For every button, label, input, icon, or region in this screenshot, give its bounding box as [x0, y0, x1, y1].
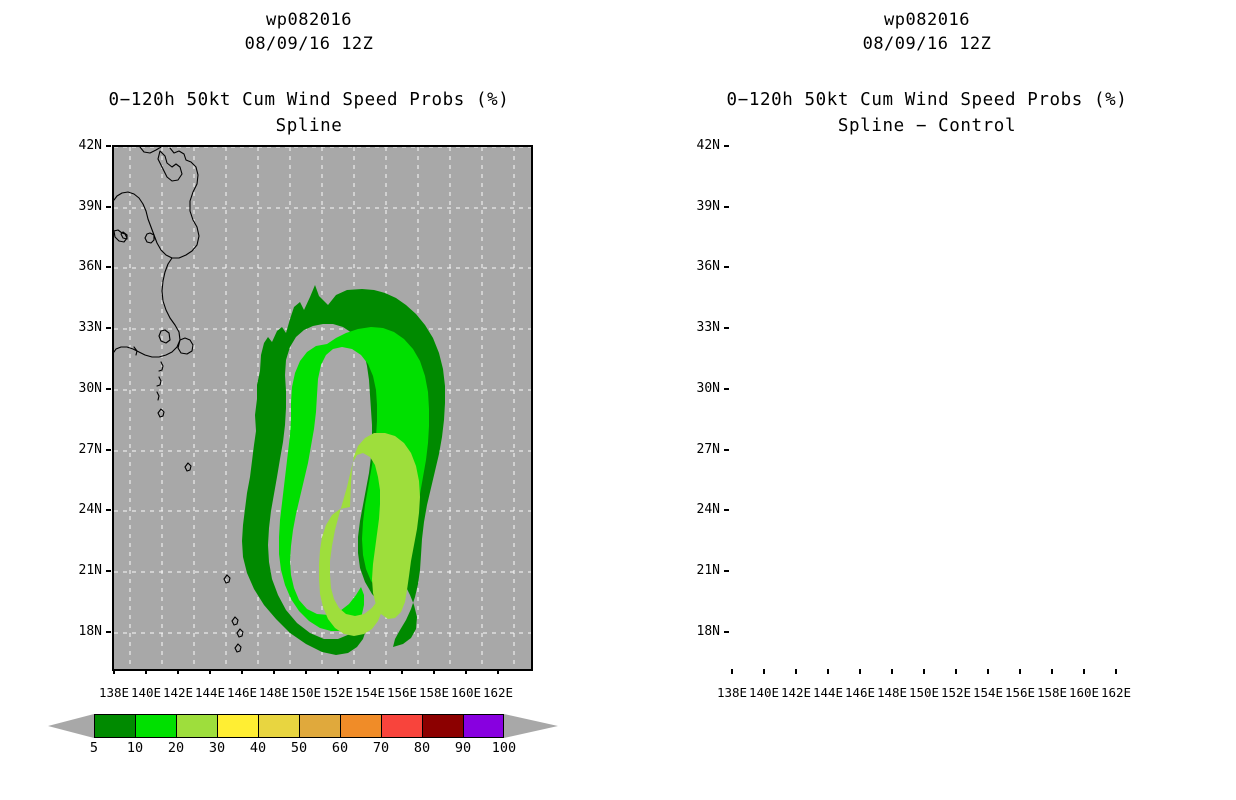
- cbar-left-tick-10: 10: [113, 740, 157, 756]
- y-label-33N: 33N: [60, 321, 102, 334]
- panel-left: wp082016 08/09/16 12Z 0−120h 50kt Cum Wi…: [0, 0, 618, 800]
- colorbar-left-seg-20-30[interactable]: [176, 714, 217, 738]
- coastline-japan: [114, 147, 243, 652]
- left-map-graphics: [114, 147, 531, 669]
- y-label-right-36N: 36N: [678, 260, 720, 273]
- y-label-right-18N: 18N: [678, 625, 720, 638]
- cbar-left-tick-50: 50: [277, 740, 321, 756]
- colorbar-left-over-cap: [504, 714, 558, 738]
- colorbar-left-seg-30-40[interactable]: [217, 714, 258, 738]
- y-label-right-39N: 39N: [678, 200, 720, 213]
- y-label-42N: 42N: [60, 139, 102, 152]
- y-label-right-33N: 33N: [678, 321, 720, 334]
- y-label-right-30N: 30N: [678, 382, 720, 395]
- cbar-left-tick-90: 90: [441, 740, 485, 756]
- y-label-36N: 36N: [60, 260, 102, 273]
- y-label-right-24N: 24N: [678, 503, 720, 516]
- cbar-left-tick-60: 60: [318, 740, 362, 756]
- y-label-39N: 39N: [60, 200, 102, 213]
- y-label-24N: 24N: [60, 503, 102, 516]
- y-label-27N: 27N: [60, 443, 102, 456]
- y-label-21N: 21N: [60, 564, 102, 577]
- panel-right-title-sub: Spline − Control: [618, 116, 1236, 136]
- panel-right: wp082016 08/09/16 12Z 0−120h 50kt Cum Wi…: [618, 0, 1236, 800]
- panel-left-datetime: 08/09/16 12Z: [0, 34, 618, 54]
- y-label-right-42N: 42N: [678, 139, 720, 152]
- colorbar-left-seg-60-70[interactable]: [340, 714, 381, 738]
- panel-right-datetime: 08/09/16 12Z: [618, 34, 1236, 54]
- cbar-left-tick-20: 20: [154, 740, 198, 756]
- colorbar-left-seg-70-80[interactable]: [381, 714, 422, 738]
- panel-left-title-sub: Spline: [0, 116, 618, 136]
- colorbar-left-seg-40-50[interactable]: [258, 714, 299, 738]
- y-label-right-27N: 27N: [678, 443, 720, 456]
- cbar-left-tick-80: 80: [400, 740, 444, 756]
- panel-right-storm-id: wp082016: [618, 10, 1236, 30]
- colorbar-left-under-cap: [48, 714, 94, 738]
- colorbar-left[interactable]: 5 10 20 30 40 50 60 70 80 90 100: [48, 710, 558, 770]
- cbar-left-tick-5: 5: [72, 740, 116, 756]
- panel-left-storm-id: wp082016: [0, 10, 618, 30]
- colorbar-left-seg-90-100[interactable]: [463, 714, 504, 738]
- y-label-right-21N: 21N: [678, 564, 720, 577]
- cbar-left-tick-100: 100: [482, 740, 526, 756]
- x-label-right-162E: 162E: [1096, 687, 1136, 700]
- map-left[interactable]: [112, 145, 533, 671]
- colorbar-left-seg-5-10[interactable]: [94, 714, 135, 738]
- colorbar-left-seg-50-60[interactable]: [299, 714, 340, 738]
- colorbar-left-seg-80-90[interactable]: [422, 714, 463, 738]
- colorbar-left-seg-10-20[interactable]: [135, 714, 176, 738]
- y-label-18N: 18N: [60, 625, 102, 638]
- y-label-30N: 30N: [60, 382, 102, 395]
- panel-right-title-main: 0−120h 50kt Cum Wind Speed Probs (%): [618, 90, 1236, 110]
- panel-left-title-main: 0−120h 50kt Cum Wind Speed Probs (%): [0, 90, 618, 110]
- x-label-162E: 162E: [478, 687, 518, 700]
- cbar-left-tick-40: 40: [236, 740, 280, 756]
- cbar-left-tick-70: 70: [359, 740, 403, 756]
- cbar-left-tick-30: 30: [195, 740, 239, 756]
